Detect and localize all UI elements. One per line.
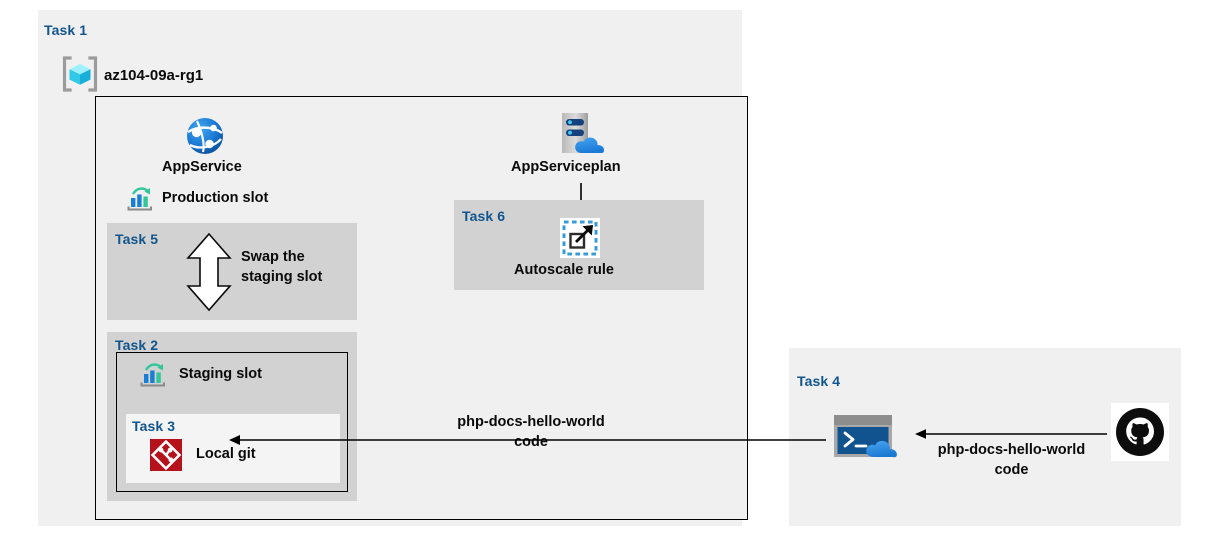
resource-group-cube-icon	[60, 54, 100, 94]
task2-inner-box: Staging slot Task 3	[116, 352, 348, 492]
task2-label: Task 2	[115, 337, 158, 353]
task4-panel: Task 4 php-docs	[789, 348, 1181, 526]
autoscale-arrow-icon	[560, 218, 600, 258]
diagram-canvas: Task 1 az104-09a-rg1	[0, 0, 1218, 545]
center-connector-label-line1: php-docs-hello-world	[431, 413, 631, 433]
github-octocat-icon	[1111, 403, 1169, 461]
resource-group-name: az104-09a-rg1	[104, 67, 203, 84]
production-slot-name: Production slot	[162, 190, 268, 206]
task5-panel: Task 5 Swap the staging slot	[107, 223, 357, 320]
resource-group-box: AppService Production slot Task 5	[95, 96, 748, 520]
deployment-slot-icon	[139, 362, 167, 388]
task2-panel: Task 2 Staging slot	[107, 332, 357, 501]
app-service-name: AppService	[162, 159, 242, 175]
task5-action-line2: staging slot	[241, 269, 322, 285]
swap-double-arrow-icon	[185, 232, 233, 312]
task1-label: Task 1	[44, 22, 87, 38]
git-icon	[150, 439, 182, 471]
app-service-plan-name: AppServiceplan	[511, 159, 621, 175]
connector-cloudshell-to-localgit	[228, 431, 828, 449]
task5-action-line1: Swap the	[241, 249, 305, 265]
autoscale-rule-name: Autoscale rule	[514, 262, 614, 278]
deployment-slot-icon	[126, 186, 154, 212]
task6-panel: Task 6 Autoscale rule	[454, 200, 704, 290]
app-service-plan-icon	[552, 110, 612, 162]
task4-label: Task 4	[797, 373, 840, 389]
task4-arrow-label-line1: php-docs-hello-world	[914, 441, 1109, 461]
cloud-shell-icon	[832, 412, 906, 464]
staging-slot-name: Staging slot	[179, 366, 262, 382]
connector-github-to-cloudshell	[914, 426, 1109, 442]
task5-label: Task 5	[115, 231, 158, 247]
task6-label: Task 6	[462, 208, 505, 224]
task4-arrow-label-line2: code	[914, 461, 1109, 481]
app-service-icon	[183, 114, 227, 158]
task3-label: Task 3	[132, 418, 175, 434]
